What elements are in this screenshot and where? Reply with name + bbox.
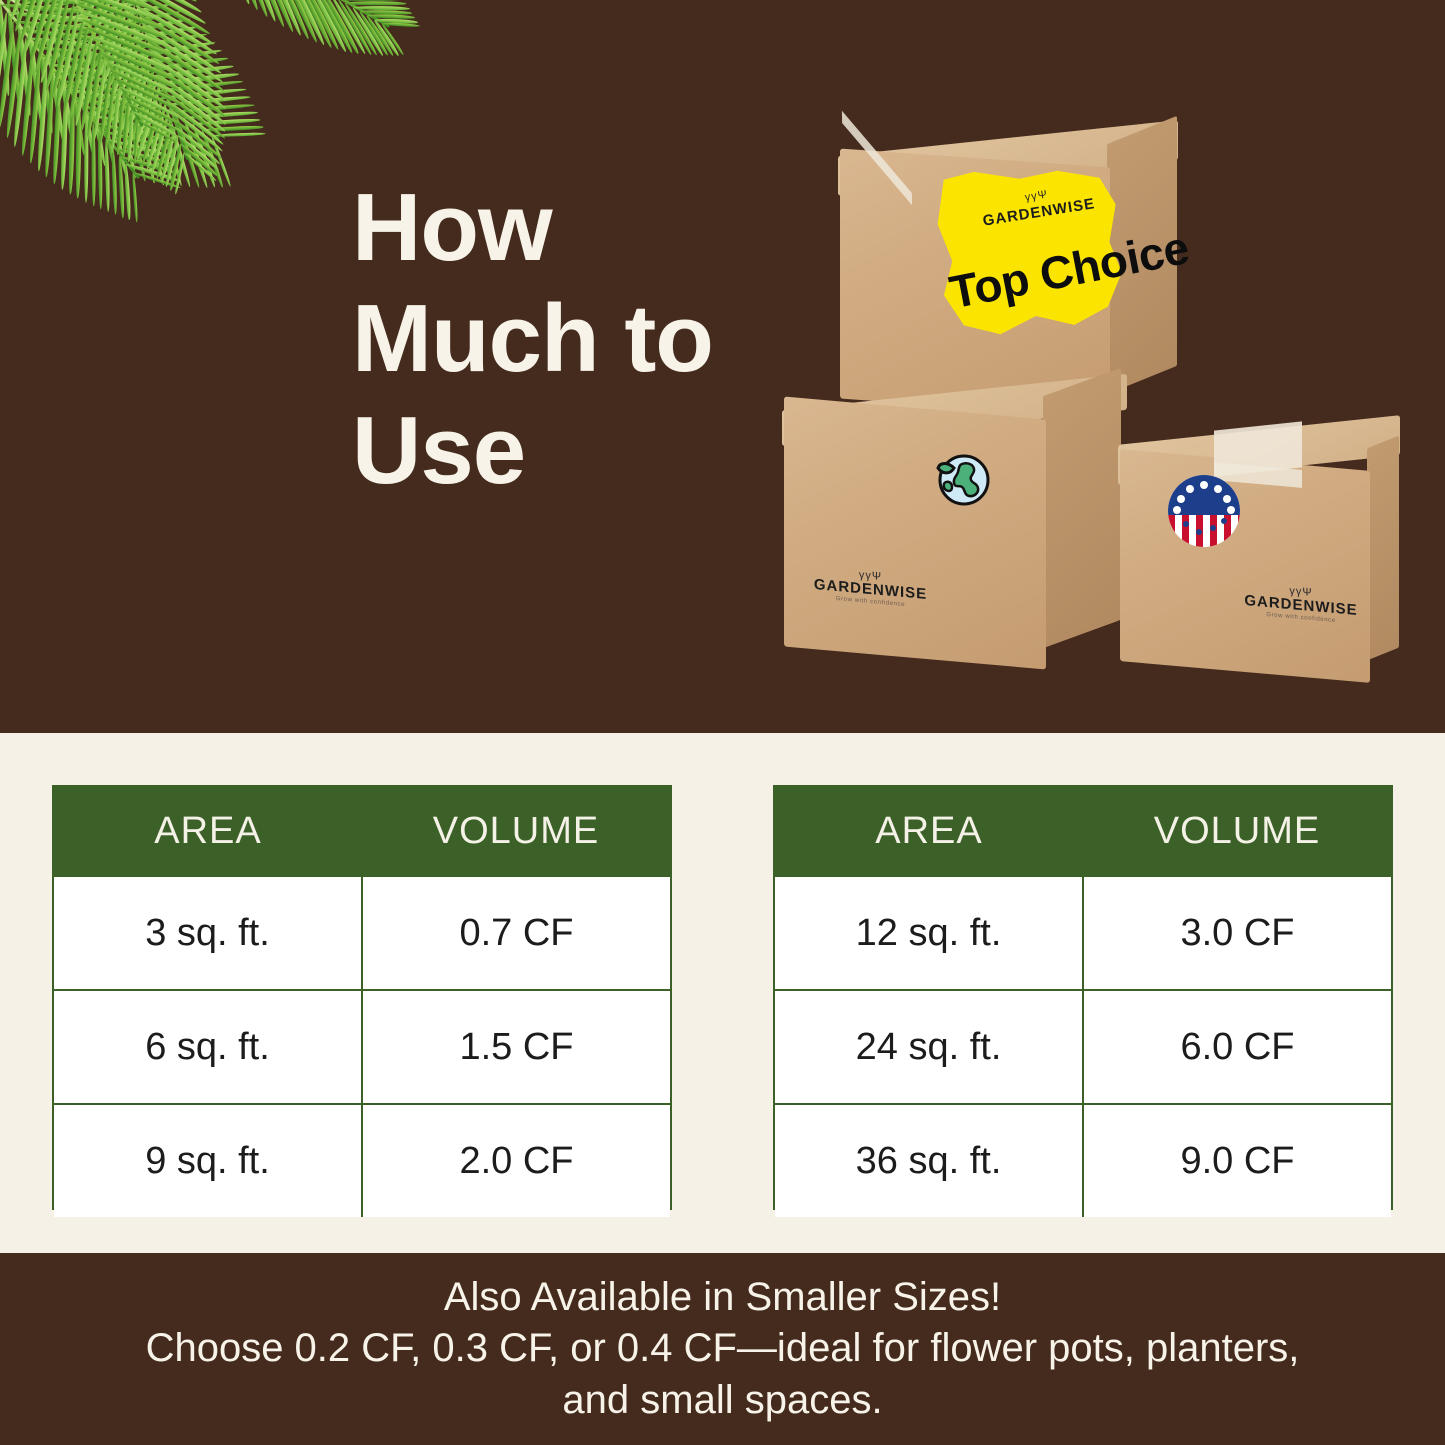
cell-volume: 6.0 CF (1083, 990, 1391, 1104)
cell-area: 36 sq. ft. (775, 1104, 1083, 1217)
cell-volume: 3.0 CF (1083, 876, 1391, 990)
table-row: 36 sq. ft. 9.0 CF (775, 1104, 1391, 1217)
right-box-side (1367, 436, 1399, 661)
column-header-volume: VOLUME (1083, 787, 1391, 876)
cell-volume: 0.7 CF (362, 876, 670, 990)
cell-volume: 1.5 CF (362, 990, 670, 1104)
earth-globe-icon (932, 448, 992, 508)
table-header-row: AREA VOLUME (775, 787, 1391, 876)
cell-area: 24 sq. ft. (775, 990, 1083, 1104)
footer-line-2: Choose 0.2 CF, 0.3 CF, or 0.4 CF—ideal f… (146, 1323, 1300, 1374)
product-boxes-photo: γγΨ GARDENWISE Top Choice γγΨ GARDENWISE… (780, 130, 1410, 690)
palm-leaflet (131, 173, 138, 223)
column-header-volume: VOLUME (362, 787, 670, 876)
usage-table-small: AREA VOLUME 3 sq. ft. 0.7 CF 6 sq. ft. 1… (52, 785, 672, 1210)
right-box-front (1120, 449, 1370, 683)
page-title-line-2: Much to (352, 283, 752, 394)
footer-line-1: Also Available in Smaller Sizes! (444, 1272, 1001, 1323)
cell-volume: 2.0 CF (362, 1104, 670, 1217)
palm-frond (189, 0, 390, 29)
table-row: 9 sq. ft. 2.0 CF (54, 1104, 670, 1217)
table-header-row: AREA VOLUME (54, 787, 670, 876)
page-title-line-3: Use (352, 395, 752, 506)
middle-box-front (784, 397, 1046, 670)
infographic-canvas: How Much to Use γγΨ GARDENWISE Top Choic… (0, 0, 1445, 1445)
footer-note: Also Available in Smaller Sizes! Choose … (0, 1253, 1445, 1445)
table-row: 24 sq. ft. 6.0 CF (775, 990, 1391, 1104)
column-header-area: AREA (775, 787, 1083, 876)
table-row: 3 sq. ft. 0.7 CF (54, 876, 670, 990)
cell-area: 3 sq. ft. (54, 876, 362, 990)
cell-area: 12 sq. ft. (775, 876, 1083, 990)
column-header-area: AREA (54, 787, 362, 876)
page-title-line-1: How (352, 172, 752, 283)
footer-line-3: and small spaces. (562, 1375, 882, 1426)
page-title: How Much to Use (352, 172, 752, 506)
cell-volume: 9.0 CF (1083, 1104, 1391, 1217)
table-row: 12 sq. ft. 3.0 CF (775, 876, 1391, 990)
palm-leaflet (221, 0, 251, 5)
middle-box-side (1043, 368, 1121, 648)
cell-area: 9 sq. ft. (54, 1104, 362, 1217)
hero-section: How Much to Use γγΨ GARDENWISE Top Choic… (0, 0, 1445, 733)
palm-leaflet (111, 147, 117, 215)
tables-section: AREA VOLUME 3 sq. ft. 0.7 CF 6 sq. ft. 1… (0, 733, 1445, 1253)
usa-flag-sticker (1168, 475, 1240, 547)
table-row: 6 sq. ft. 1.5 CF (54, 990, 670, 1104)
palm-leaflet (125, 164, 132, 220)
cell-area: 6 sq. ft. (54, 990, 362, 1104)
usage-table-large: AREA VOLUME 12 sq. ft. 3.0 CF 24 sq. ft.… (773, 785, 1393, 1210)
palm-leaflet (228, 0, 260, 11)
